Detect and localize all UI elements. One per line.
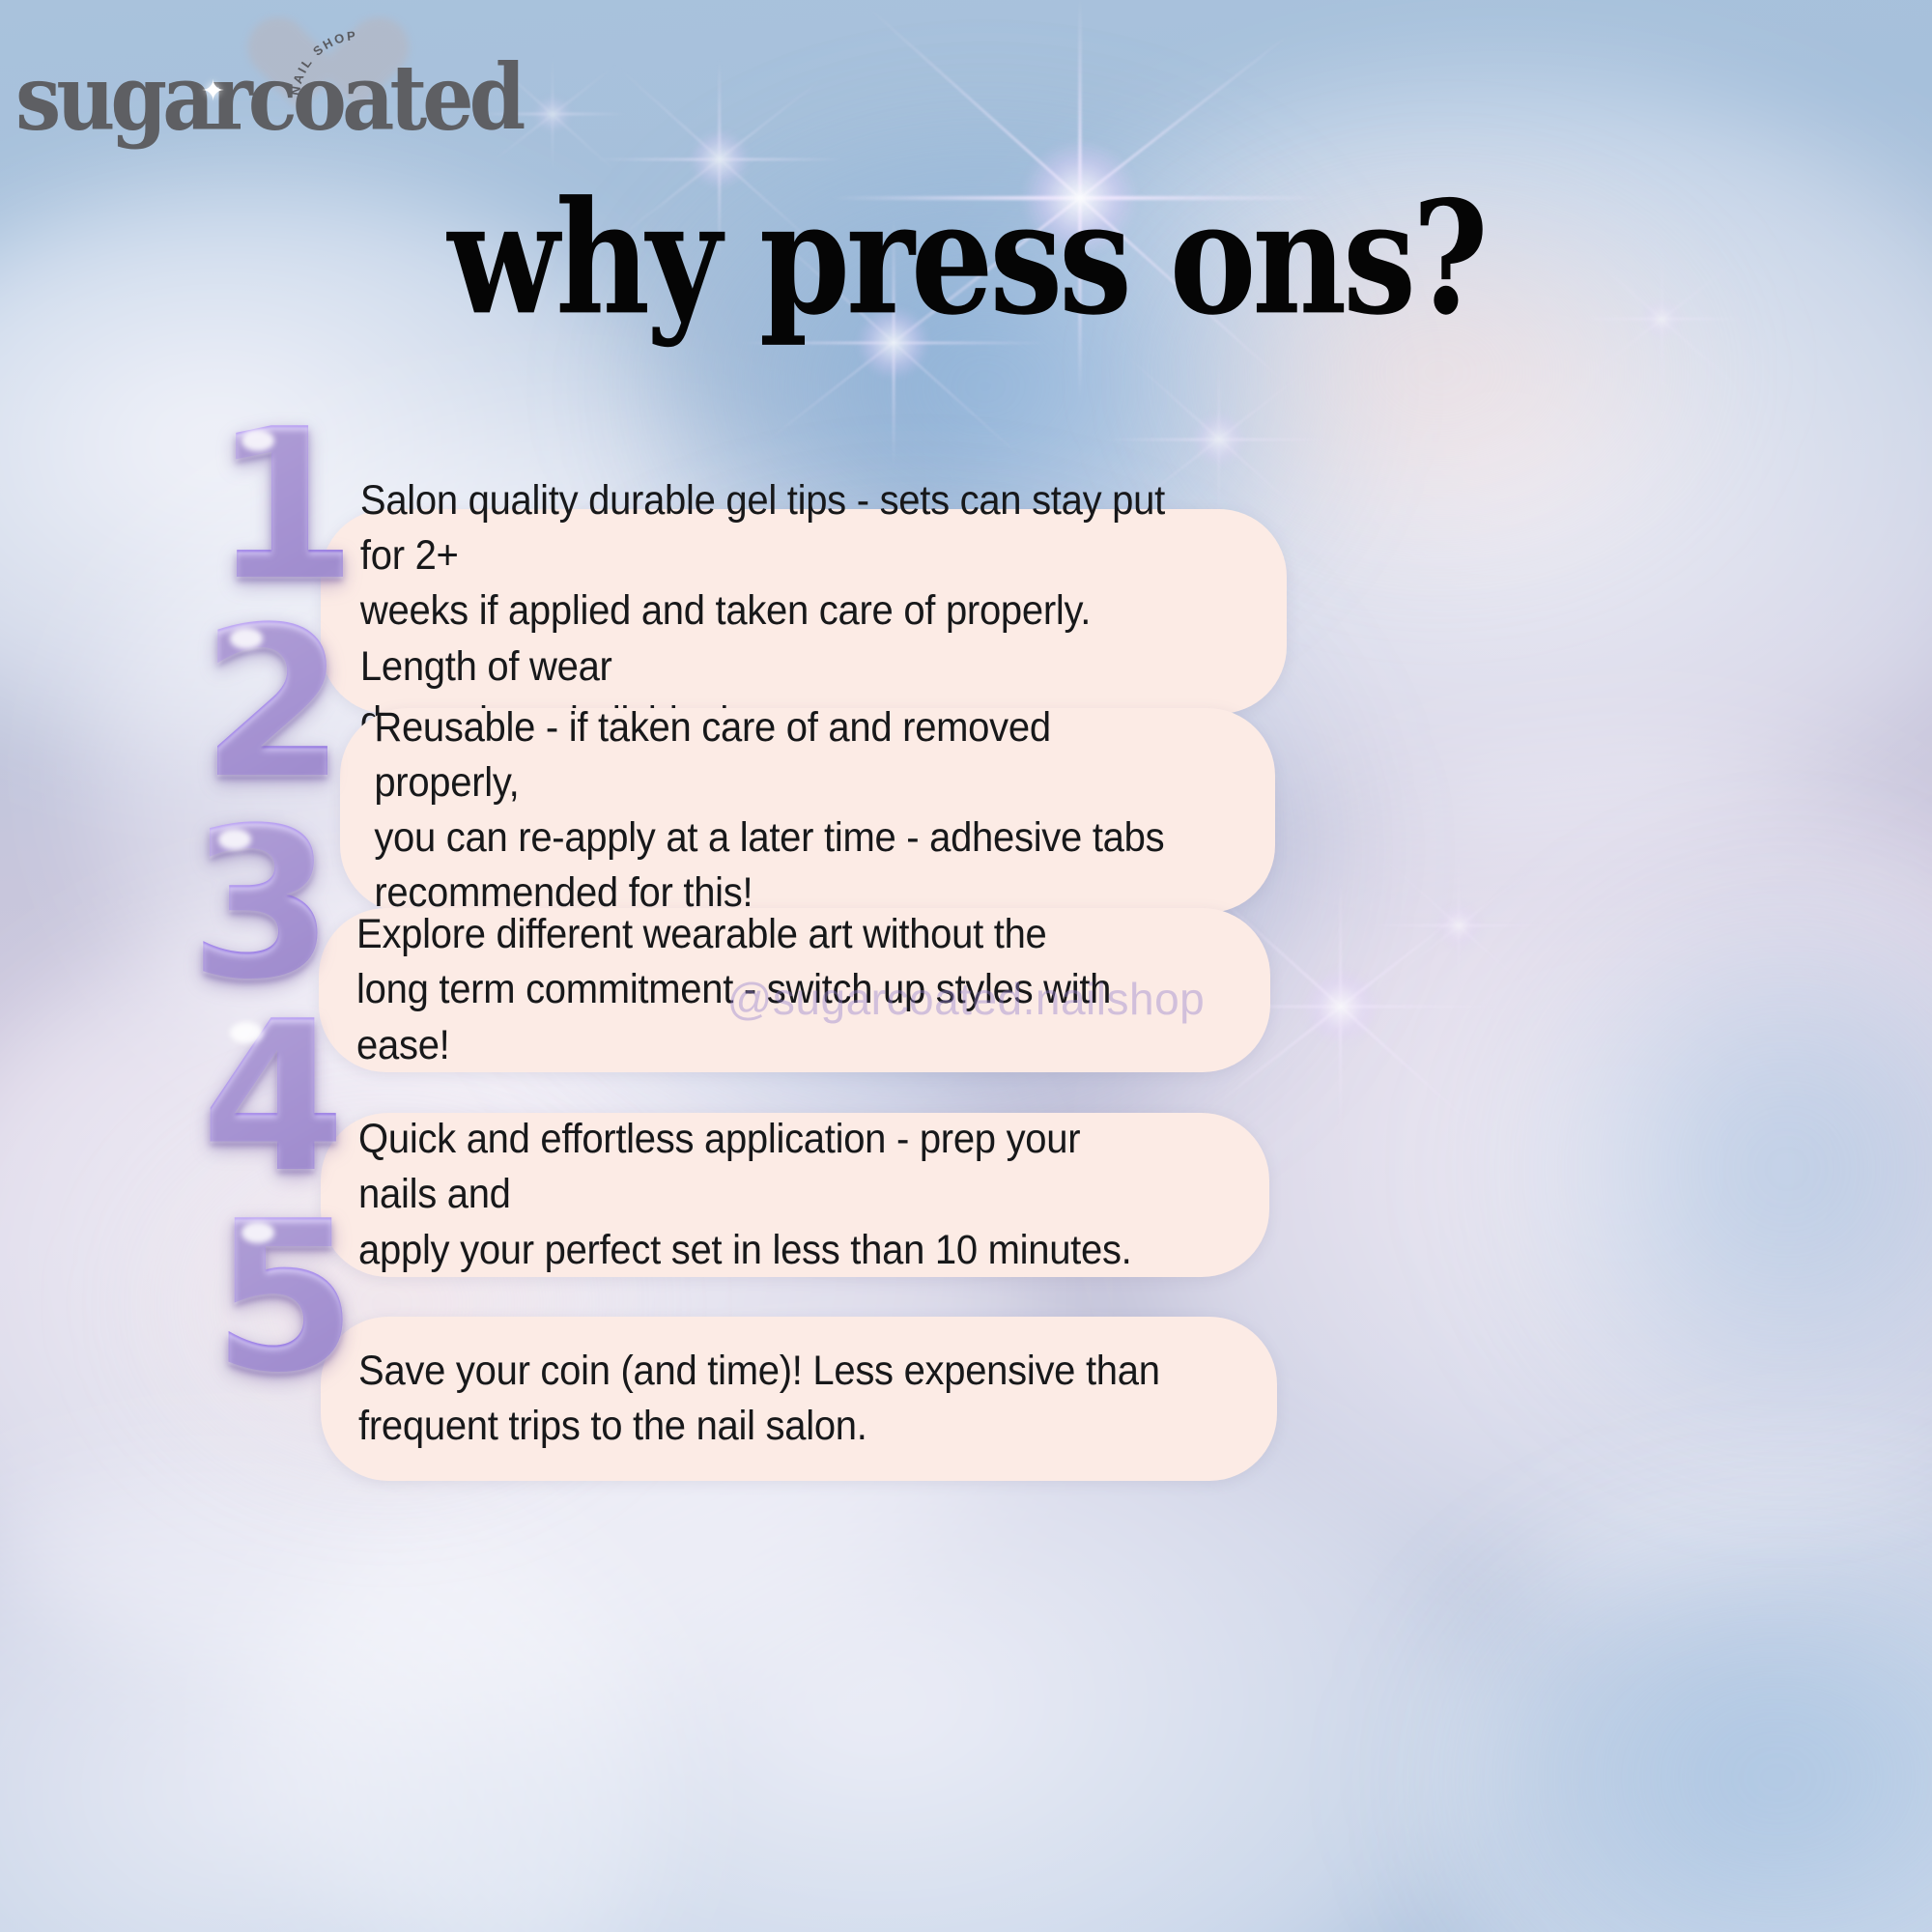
benefit-text: Quick and effortless application - prep … <box>321 1112 1203 1278</box>
benefit-pill: Quick and effortless application - prep … <box>321 1113 1269 1277</box>
benefit-number-glyph: 2 <box>201 599 346 807</box>
benefits-list: Salon quality durable gel tips - sets ca… <box>0 0 1932 1932</box>
number-gloss-highlight <box>218 829 251 850</box>
poster-canvas: sugarcoated ✦ NAIL SHOP why press ons? S… <box>0 0 1932 1932</box>
benefit-number-2: 2 <box>201 599 346 807</box>
benefit-pill: Save your coin (and time)! Less expensiv… <box>321 1317 1277 1481</box>
watermark: @sugarcoated.nailshop <box>0 973 1932 1025</box>
benefit-number-glyph: 5 <box>213 1193 357 1401</box>
benefit-text: Save your coin (and time)! Less expensiv… <box>321 1344 1200 1454</box>
benefit-pill: Salon quality durable gel tips - sets ca… <box>321 509 1287 714</box>
benefit-number-1: 1 <box>213 401 357 609</box>
number-gloss-highlight <box>241 1222 274 1243</box>
benefit-number-5: 5 <box>213 1193 357 1401</box>
benefit-pill: Reusable - if taken care of and removed … <box>340 708 1275 913</box>
number-gloss-highlight <box>230 1022 263 1043</box>
benefit-number-glyph: 1 <box>213 401 357 609</box>
number-gloss-highlight <box>241 430 274 451</box>
number-gloss-highlight <box>230 628 263 649</box>
benefit-text: Reusable - if taken care of and removed … <box>340 700 1209 922</box>
